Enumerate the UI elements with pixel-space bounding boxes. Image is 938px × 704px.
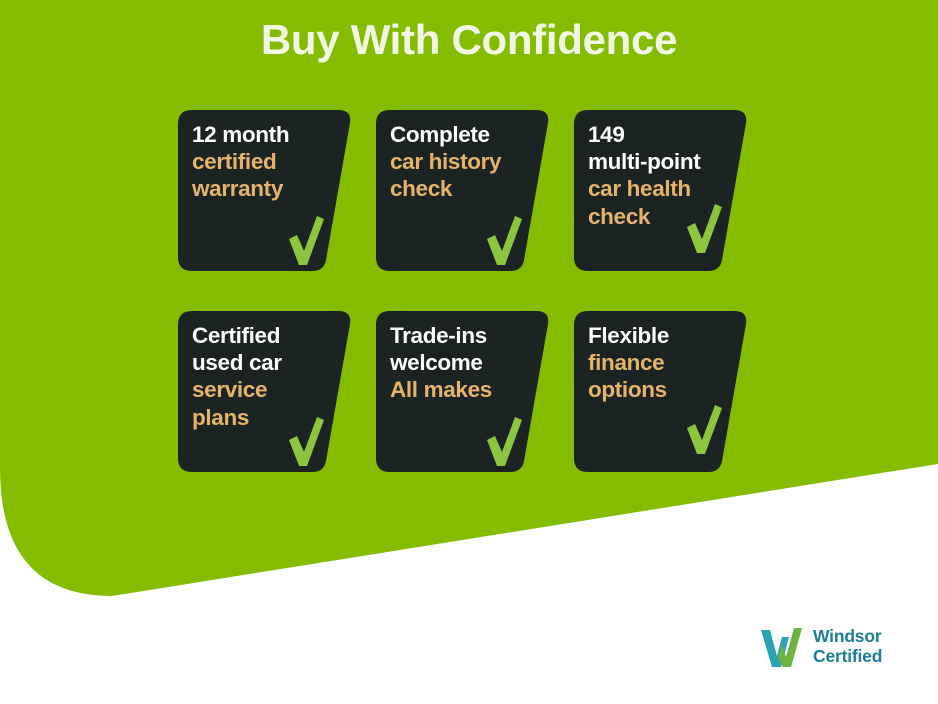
benefits-row-bottom: Certified used car service plans bbox=[178, 311, 748, 472]
card-line: car health bbox=[588, 175, 738, 202]
card-line: Trade-ins bbox=[390, 322, 540, 349]
card-line: check bbox=[390, 175, 540, 202]
card-multi-point-health-check[interactable]: 149 multi-point car health check bbox=[574, 110, 748, 271]
card-text-block: Flexible finance options bbox=[588, 322, 738, 404]
check-icon bbox=[286, 416, 326, 468]
card-trade-ins[interactable]: Trade-ins welcome All makes bbox=[376, 311, 550, 472]
card-car-history-check[interactable]: Complete car history check bbox=[376, 110, 550, 271]
card-service-plans[interactable]: Certified used car service plans bbox=[178, 311, 352, 472]
card-text-block: Certified used car service plans bbox=[192, 322, 342, 431]
card-line: used car bbox=[192, 349, 342, 376]
card-line: 12 month bbox=[192, 121, 342, 148]
check-icon bbox=[684, 404, 724, 456]
card-text-block: Trade-ins welcome All makes bbox=[390, 322, 540, 404]
card-line: service bbox=[192, 376, 342, 403]
card-line: welcome bbox=[390, 349, 540, 376]
benefits-grid: 12 month certified warranty bbox=[178, 110, 748, 472]
card-certified-warranty[interactable]: 12 month certified warranty bbox=[178, 110, 352, 271]
card-finance-options[interactable]: Flexible finance options bbox=[574, 311, 748, 472]
slide-canvas: Buy With Confidence 12 month certified w… bbox=[0, 0, 938, 704]
card-line: Flexible bbox=[588, 322, 738, 349]
card-line: car history bbox=[390, 148, 540, 175]
card-line: options bbox=[588, 376, 738, 403]
brand-line-2: Certified bbox=[813, 647, 882, 667]
brand-line-1: Windsor bbox=[813, 627, 882, 647]
check-icon bbox=[484, 416, 524, 468]
card-line: certified bbox=[192, 148, 342, 175]
check-icon bbox=[484, 215, 524, 267]
card-text-block: Complete car history check bbox=[390, 121, 540, 203]
card-line: Complete bbox=[390, 121, 540, 148]
brand-logo: Windsor Certified bbox=[760, 626, 882, 668]
card-line: 149 bbox=[588, 121, 738, 148]
card-line: multi-point bbox=[588, 148, 738, 175]
card-line: finance bbox=[588, 349, 738, 376]
check-icon bbox=[286, 215, 326, 267]
page-title: Buy With Confidence bbox=[0, 16, 938, 64]
benefits-row-top: 12 month certified warranty bbox=[178, 110, 748, 271]
brand-logo-wordmark: Windsor Certified bbox=[813, 627, 882, 666]
card-line: All makes bbox=[390, 376, 540, 403]
card-line: Certified bbox=[192, 322, 342, 349]
card-text-block: 12 month certified warranty bbox=[192, 121, 342, 203]
windsor-w-icon bbox=[760, 626, 804, 668]
check-icon bbox=[684, 203, 724, 255]
card-line: warranty bbox=[192, 175, 342, 202]
